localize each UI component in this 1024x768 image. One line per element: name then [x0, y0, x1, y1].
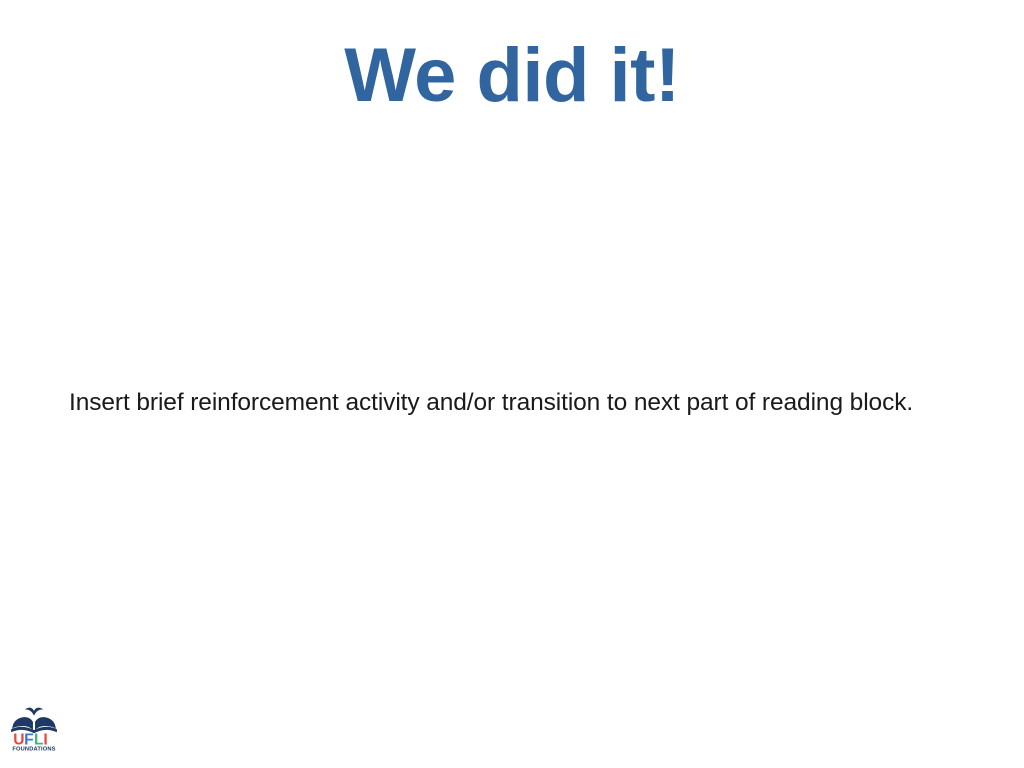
slide-canvas: We did it! Insert brief reinforcement ac… — [0, 0, 1024, 768]
ufli-logo-icon: U F L I FOUNDATIONS — [8, 700, 60, 752]
page-title: We did it! — [0, 36, 1024, 116]
logo-subtitle: FOUNDATIONS — [12, 746, 55, 752]
ufli-foundations-logo: U F L I FOUNDATIONS — [8, 700, 60, 752]
body-paragraph: Insert brief reinforcement activity and/… — [69, 388, 969, 419]
bird-icon — [25, 708, 44, 716]
